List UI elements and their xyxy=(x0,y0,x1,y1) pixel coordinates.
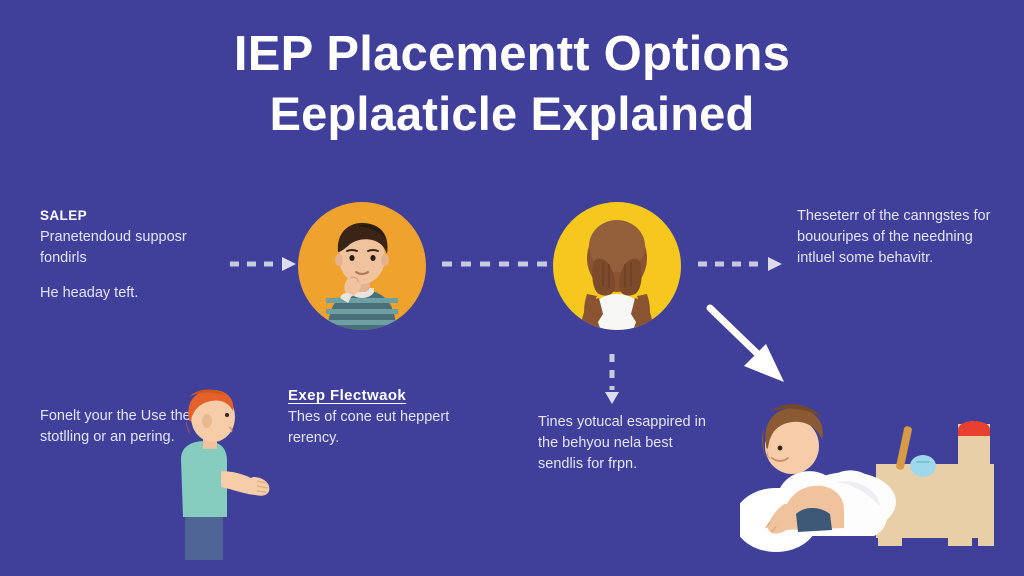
covering-face-illustration xyxy=(553,202,681,330)
connector-dashed-line-2 xyxy=(440,252,556,276)
text-block-top-left: SALEP Pranetendoud supposr fondirls He h… xyxy=(40,206,230,304)
reaching-boy-figure xyxy=(165,385,285,560)
dashed-arrow-right-icon-2 xyxy=(690,252,800,276)
avatar-covering-face xyxy=(553,202,681,330)
connector-dashed-arrow-right-1 xyxy=(228,252,300,276)
top-right-paragraph-1: Theseterr of the canngstes for bououripe… xyxy=(797,206,997,269)
bottom-middle-heading: Exep Flectwaok xyxy=(288,386,463,405)
dashed-arrow-down-icon xyxy=(600,352,624,408)
illustration-bath-scene xyxy=(740,378,1024,576)
title-line-2: Eeplaaticle Explained xyxy=(0,84,1024,144)
top-left-heading: SALEP xyxy=(40,206,230,225)
poster-canvas: IEP Placementt Options Eeplaaticle Expla… xyxy=(0,0,1024,576)
thinking-boy-illustration xyxy=(298,202,426,330)
text-block-top-right: Theseterr of the canngstes for bououripe… xyxy=(797,206,997,269)
page-title: IEP Placementt Options Eeplaaticle Expla… xyxy=(0,24,1024,144)
text-block-bottom-right: Tines yotucal esappired in the behyou ne… xyxy=(538,412,713,475)
avatar-thinking-boy xyxy=(298,202,426,330)
dashed-arrow-right-icon xyxy=(228,252,300,276)
top-left-paragraph-2: He headay teft. xyxy=(40,283,230,304)
dashed-line-icon xyxy=(440,252,556,276)
title-line-1: IEP Placementt Options xyxy=(0,24,1024,84)
top-left-paragraph-1: Pranetendoud supposr fondirls xyxy=(40,227,230,269)
bottom-right-paragraph-1: Tines yotucal esappired in the behyou ne… xyxy=(538,412,713,475)
bottom-middle-paragraph-1: Thes of cone eut heppert rerency. xyxy=(288,407,463,449)
bath-scene-figure xyxy=(740,378,1024,576)
illustration-reaching-boy xyxy=(165,385,285,560)
connector-dashed-arrow-right-3 xyxy=(690,252,800,276)
text-block-bottom-middle: Exep Flectwaok Thes of cone eut heppert … xyxy=(288,386,463,449)
connector-dashed-arrow-down xyxy=(600,352,624,408)
